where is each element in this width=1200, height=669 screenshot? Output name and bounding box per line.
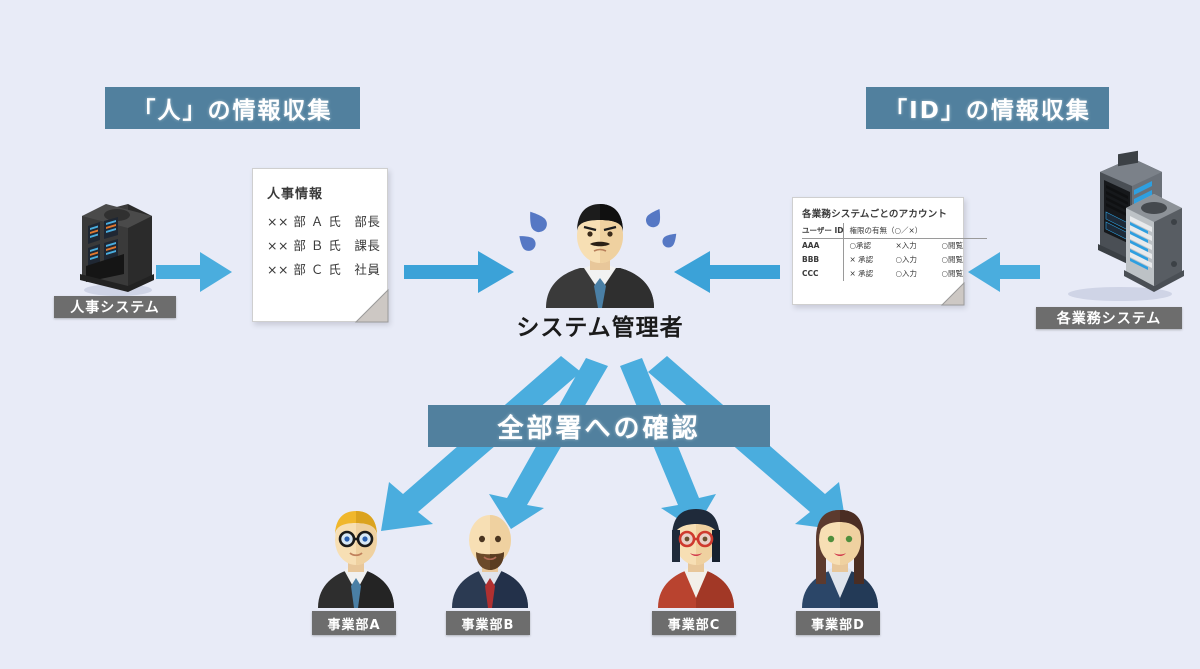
account-document-title: 各業務システムごとのアカウント (802, 206, 947, 220)
table-header-row: ユーザー ID 権限の有無（○／×） (802, 223, 987, 238)
account-table-document: 各業務システムごとのアカウント ユーザー ID 権限の有無（○／×） AAA ○… (792, 197, 964, 305)
account-permissions-table: ユーザー ID 権限の有無（○／×） AAA ○承認×入力○閲覧 BBB × 承… (802, 223, 987, 281)
cell-permissions: × 承認○入力○閲覧 (844, 253, 988, 267)
department-a-label: 事業部A (312, 611, 396, 635)
business-systems-server-icon (1040, 152, 1188, 304)
cell-user-id: AAA (802, 238, 844, 253)
table-row: CCC × 承認○入力○閲覧 (802, 267, 987, 281)
page-fold-corner (942, 283, 964, 305)
department-c-label: 事業部C (652, 611, 736, 635)
permission-value: ×入力 (895, 240, 941, 251)
hr-server-icon (68, 186, 154, 298)
hr-document-row: ×× 部 Ａ 氏 部長 (267, 211, 380, 230)
permission-value: × 承認 (849, 268, 895, 279)
column-header-permissions: 権限の有無（○／×） (844, 223, 988, 238)
arrow-paper-to-admin (404, 251, 514, 293)
cell-user-id: BBB (802, 253, 844, 267)
permission-value: ○閲覧 (941, 240, 987, 251)
hr-information-document: 人事情報 ×× 部 Ａ 氏 部長 ×× 部 Ｂ 氏 課長 ×× 部 Ｃ 氏 社員 (252, 168, 388, 322)
department-d-figure (790, 508, 886, 608)
administrator-label: システム管理者 (470, 308, 730, 342)
permission-value: ○閲覧 (941, 254, 987, 265)
cell-user-id: CCC (802, 267, 844, 281)
banner-id-info: 「ID」の情報収集 (866, 87, 1109, 129)
department-a-figure (306, 508, 402, 608)
hr-document-title: 人事情報 (267, 183, 323, 202)
table-row: BBB × 承認○入力○閲覧 (802, 253, 987, 267)
cell-permissions: × 承認○入力○閲覧 (844, 267, 988, 281)
business-systems-label: 各業務システム (1036, 307, 1182, 329)
department-d-label: 事業部D (796, 611, 880, 635)
permission-value: ○入力 (895, 268, 941, 279)
diagram-canvas: 「人」の情報収集 「ID」の情報収集 (0, 0, 1200, 669)
permission-value: ○入力 (895, 254, 941, 265)
department-b-label: 事業部B (446, 611, 530, 635)
arrow-hr-to-paper (156, 252, 232, 292)
cell-permissions: ○承認×入力○閲覧 (844, 238, 988, 253)
page-fold-corner (356, 290, 388, 322)
sweat-drops-icon (500, 196, 700, 256)
permission-value: ○閲覧 (941, 268, 987, 279)
hr-system-label: 人事システム (54, 296, 176, 318)
banner-people-info: 「人」の情報収集 (105, 87, 360, 129)
table-row: AAA ○承認×入力○閲覧 (802, 238, 987, 253)
permission-value: × 承認 (849, 254, 895, 265)
hr-document-row: ×× 部 Ｃ 氏 社員 (267, 259, 380, 278)
hr-document-row: ×× 部 Ｂ 氏 課長 (267, 235, 380, 254)
department-b-figure (440, 508, 536, 608)
banner-all-departments-confirmation: 全部署への確認 (428, 405, 770, 447)
permission-value: ○承認 (849, 240, 895, 251)
column-header-user-id: ユーザー ID (802, 223, 844, 238)
department-c-figure (646, 508, 742, 608)
arrow-account-to-admin (674, 251, 780, 293)
